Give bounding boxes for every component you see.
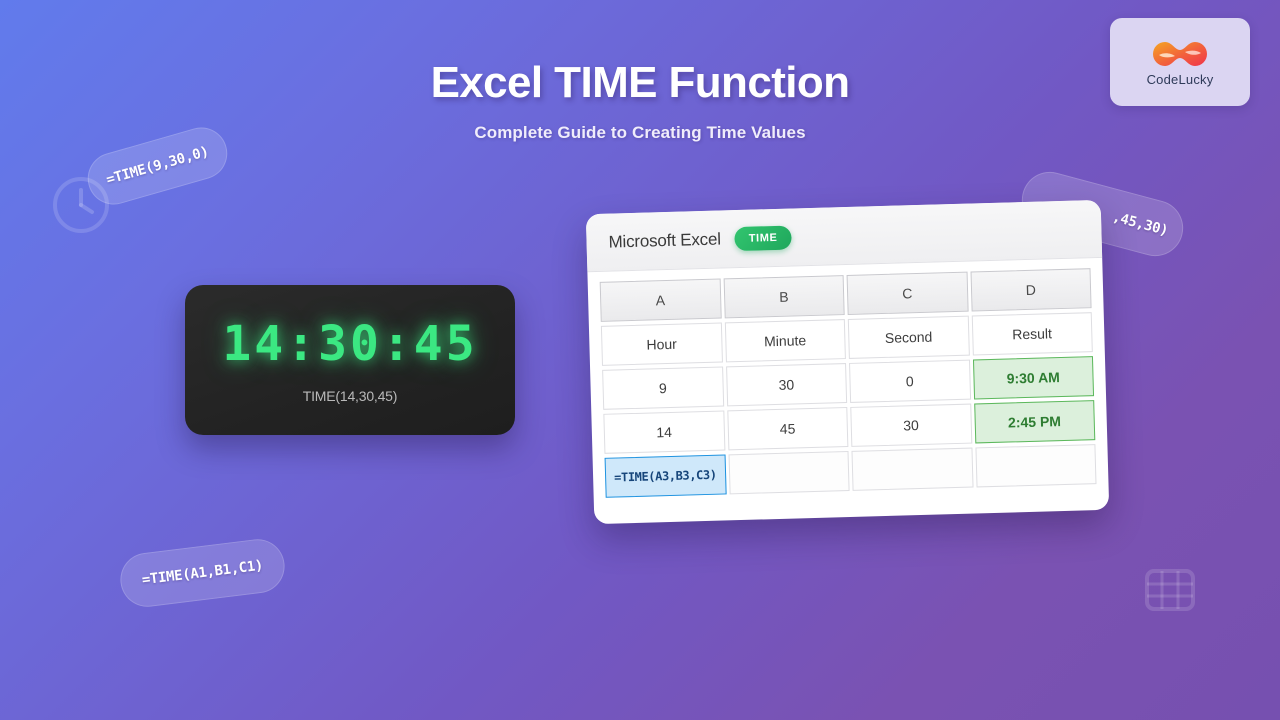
spreadsheet-body[interactable]: HourMinuteSecondResult93009:30 AM1445302… — [601, 312, 1097, 498]
empty-cell[interactable] — [728, 451, 850, 494]
excel-window[interactable]: Microsoft Excel TIME ABCD HourMinuteSeco… — [586, 200, 1109, 524]
brand-name: CodeLucky — [1147, 72, 1214, 87]
sheet-cell[interactable]: 9 — [602, 366, 724, 409]
empty-cell[interactable] — [975, 444, 1097, 487]
sheet-cell[interactable]: 30 — [726, 363, 848, 406]
result-cell[interactable]: 2:45 PM — [974, 400, 1096, 443]
sheet-cell[interactable]: Hour — [601, 323, 723, 366]
infinity-leaf-icon — [1150, 38, 1210, 70]
formula-pill-time-a1-b1-c1: =TIME(A1,B1,C1) — [117, 536, 287, 610]
sheet-cell[interactable]: 45 — [727, 407, 849, 450]
sheet-cell[interactable]: 14 — [603, 410, 725, 453]
sheet-cell[interactable]: Result — [971, 312, 1093, 355]
column-header-b[interactable]: B — [723, 275, 845, 318]
table-row: =TIME(A3,B3,C3) — [605, 444, 1097, 498]
empty-cell[interactable] — [851, 448, 973, 491]
clock-time-display: 14:30:45 — [222, 316, 477, 372]
excel-app-name: Microsoft Excel — [608, 229, 721, 252]
column-header-a[interactable]: A — [600, 279, 722, 322]
brand-badge[interactable]: CodeLucky — [1110, 18, 1250, 106]
sheet-cell[interactable]: 0 — [849, 360, 971, 403]
sheet-cell[interactable]: 30 — [850, 404, 972, 447]
page-title: Excel TIME Function — [0, 58, 1280, 109]
sheet-cell[interactable]: Minute — [724, 319, 846, 362]
column-header-d[interactable]: D — [970, 268, 1092, 311]
column-header-c[interactable]: C — [847, 272, 969, 315]
time-function-badge: TIME — [734, 225, 791, 251]
spreadsheet-grid[interactable]: ABCD HourMinuteSecondResult93009:30 AM14… — [587, 258, 1108, 498]
digital-clock-panel: 14:30:45 TIME(14,30,45) — [185, 285, 515, 435]
clock-formula-caption: TIME(14,30,45) — [303, 388, 397, 404]
sheet-cell[interactable]: Second — [848, 316, 970, 359]
spreadsheet-grid-icon — [1142, 562, 1198, 618]
active-formula-cell[interactable]: =TIME(A3,B3,C3) — [605, 454, 727, 497]
result-cell[interactable]: 9:30 AM — [972, 356, 1094, 399]
